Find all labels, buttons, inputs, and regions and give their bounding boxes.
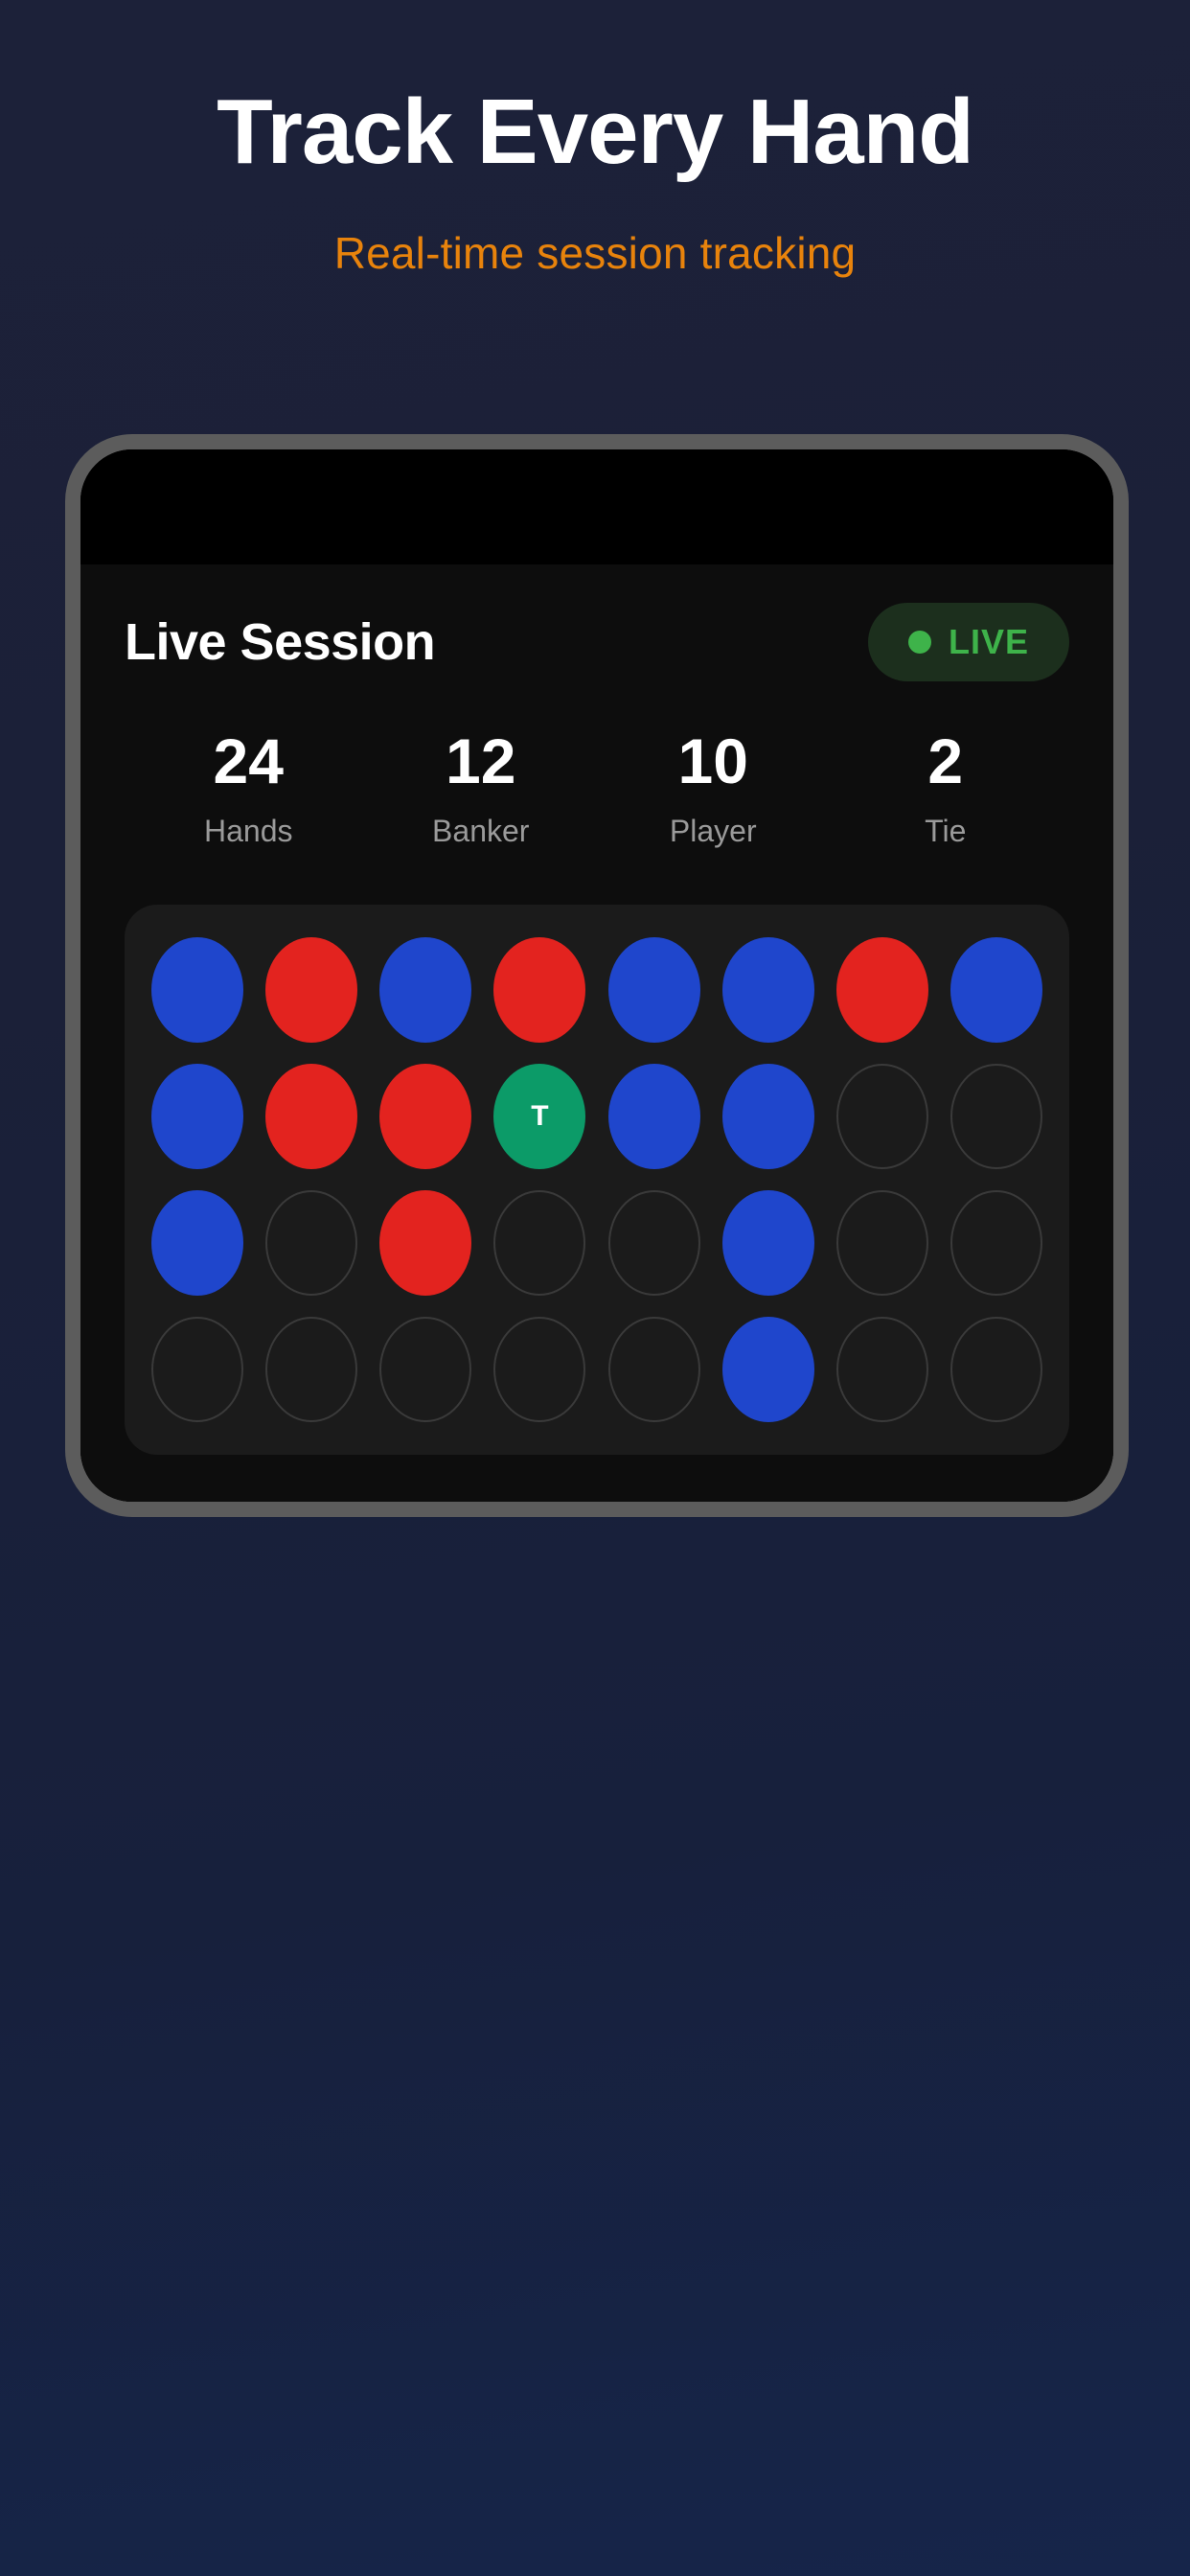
bead-cell-player[interactable]	[493, 937, 585, 1043]
bead-cell-banker[interactable]	[608, 937, 700, 1043]
bead-cell-empty[interactable]	[950, 1064, 1042, 1169]
bead-mark: T	[531, 1102, 548, 1131]
bead-cell-tie[interactable]: T	[493, 1064, 585, 1169]
bead-cell-player[interactable]	[379, 1064, 471, 1169]
phone-mockup: Live Session LIVE 24 Hands 12 Banker	[65, 434, 1129, 1517]
bead-cell-banker[interactable]	[379, 937, 471, 1043]
bead-cell-empty[interactable]	[836, 1317, 928, 1422]
live-badge-label: LIVE	[949, 622, 1029, 662]
bead-cell-empty[interactable]	[493, 1190, 585, 1296]
bead-row: T	[151, 1064, 1042, 1169]
status-bar	[80, 449, 1113, 564]
bead-cell-banker[interactable]	[722, 1317, 814, 1422]
stat-label: Player	[597, 814, 830, 849]
hero-section: Track Every Hand Real-time session track…	[0, 0, 1190, 279]
phone-screen: Live Session LIVE 24 Hands 12 Banker	[80, 449, 1113, 1502]
action-bar: Banker Player Tie	[125, 1455, 1069, 1517]
session-stats: 24 Hands 12 Banker 10 Player 2 Tie	[125, 729, 1069, 849]
stat-banker: 12 Banker	[365, 729, 598, 849]
stat-value: 12	[365, 729, 598, 793]
session-title: Live Session	[125, 612, 435, 672]
bead-cell-banker[interactable]	[722, 1190, 814, 1296]
bead-cell-banker[interactable]	[151, 1190, 243, 1296]
tie-button[interactable]: Tie	[847, 1503, 1069, 1517]
bead-cell-empty[interactable]	[836, 1190, 928, 1296]
bead-row	[151, 1317, 1042, 1422]
bead-cell-empty[interactable]	[265, 1317, 357, 1422]
bead-cell-empty[interactable]	[493, 1317, 585, 1422]
stat-label: Hands	[132, 814, 365, 849]
status-badge-live[interactable]: LIVE	[868, 603, 1069, 681]
page-title: Track Every Hand	[0, 84, 1190, 181]
bead-cell-banker[interactable]	[151, 1064, 243, 1169]
live-dot-icon	[908, 631, 931, 654]
bead-cell-banker[interactable]	[608, 1064, 700, 1169]
banker-button[interactable]: Banker	[125, 1503, 457, 1517]
bead-cell-banker[interactable]	[151, 937, 243, 1043]
bead-cell-empty[interactable]	[608, 1317, 700, 1422]
bead-cell-player[interactable]	[265, 1064, 357, 1169]
bead-cell-banker[interactable]	[722, 1064, 814, 1169]
bead-plate[interactable]: T	[125, 905, 1069, 1455]
bead-cell-banker[interactable]	[950, 937, 1042, 1043]
stat-player: 10 Player	[597, 729, 830, 849]
bead-cell-player[interactable]	[836, 937, 928, 1043]
bead-cell-banker[interactable]	[722, 937, 814, 1043]
bead-cell-empty[interactable]	[836, 1064, 928, 1169]
bead-cell-empty[interactable]	[608, 1190, 700, 1296]
bead-cell-player[interactable]	[379, 1190, 471, 1296]
bead-cell-player[interactable]	[265, 937, 357, 1043]
bead-cell-empty[interactable]	[151, 1317, 243, 1422]
stat-label: Banker	[365, 814, 598, 849]
bead-cell-empty[interactable]	[379, 1317, 471, 1422]
stat-value: 10	[597, 729, 830, 793]
bead-cell-empty[interactable]	[950, 1317, 1042, 1422]
bead-row	[151, 937, 1042, 1043]
bead-cell-empty[interactable]	[950, 1190, 1042, 1296]
bead-row	[151, 1190, 1042, 1296]
stat-hands: 24 Hands	[132, 729, 365, 849]
stat-label: Tie	[830, 814, 1063, 849]
stat-value: 24	[132, 729, 365, 793]
app-content: Live Session LIVE 24 Hands 12 Banker	[80, 564, 1113, 1517]
phone-frame: Live Session LIVE 24 Hands 12 Banker	[65, 434, 1129, 1517]
page-subtitle: Real-time session tracking	[0, 227, 1190, 279]
session-header: Live Session LIVE	[125, 564, 1069, 681]
stat-tie: 2 Tie	[830, 729, 1063, 849]
player-button[interactable]: Player	[492, 1503, 812, 1517]
bead-cell-empty[interactable]	[265, 1190, 357, 1296]
stat-value: 2	[830, 729, 1063, 793]
